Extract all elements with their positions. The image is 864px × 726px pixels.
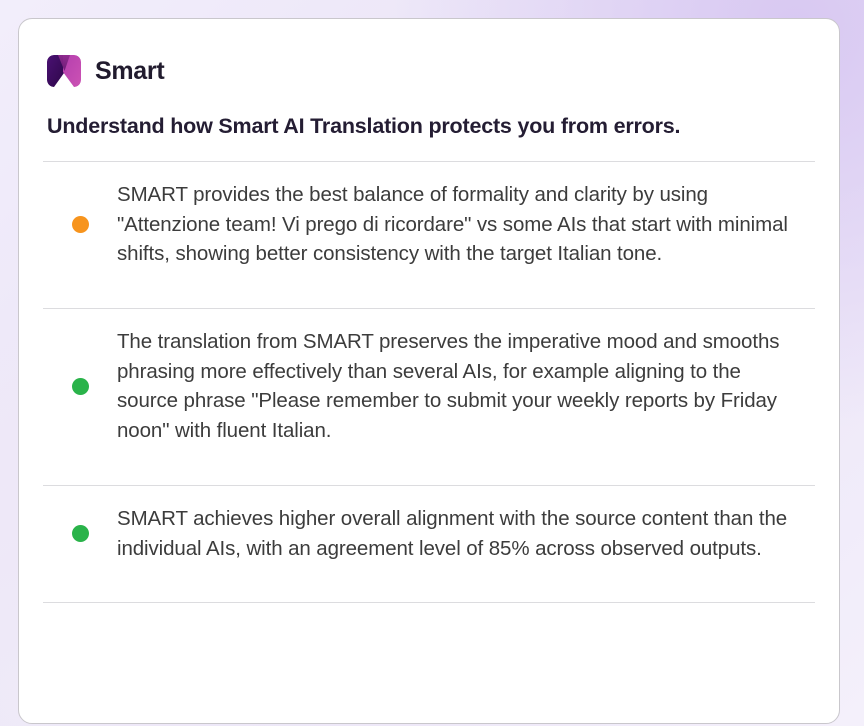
status-dot-icon xyxy=(72,216,89,233)
status-dot-icon xyxy=(72,525,89,542)
list-item-text: The translation from SMART preserves the… xyxy=(117,327,815,446)
list-item-text: SMART provides the best balance of forma… xyxy=(117,180,815,269)
list-item-text: SMART achieves higher overall alignment … xyxy=(117,504,815,563)
status-dot-cell xyxy=(43,525,117,542)
list-item: The translation from SMART preserves the… xyxy=(43,309,815,464)
list-item: SMART achieves higher overall alignment … xyxy=(43,486,815,581)
smart-info-card: Smart Understand how Smart AI Translatio… xyxy=(18,18,840,724)
page-root: Smart Understand how Smart AI Translatio… xyxy=(0,0,864,726)
divider-bottom xyxy=(43,602,815,603)
page-subtitle: Understand how Smart AI Translation prot… xyxy=(47,113,815,140)
brand-title: Smart xyxy=(95,59,164,84)
card-header: Smart xyxy=(43,43,815,95)
list-item: SMART provides the best balance of forma… xyxy=(43,162,815,287)
smart-logo-icon xyxy=(47,55,81,87)
status-dot-cell xyxy=(43,216,117,233)
insight-list: SMART provides the best balance of forma… xyxy=(43,162,815,603)
status-dot-icon xyxy=(72,378,89,395)
status-dot-cell xyxy=(43,378,117,395)
